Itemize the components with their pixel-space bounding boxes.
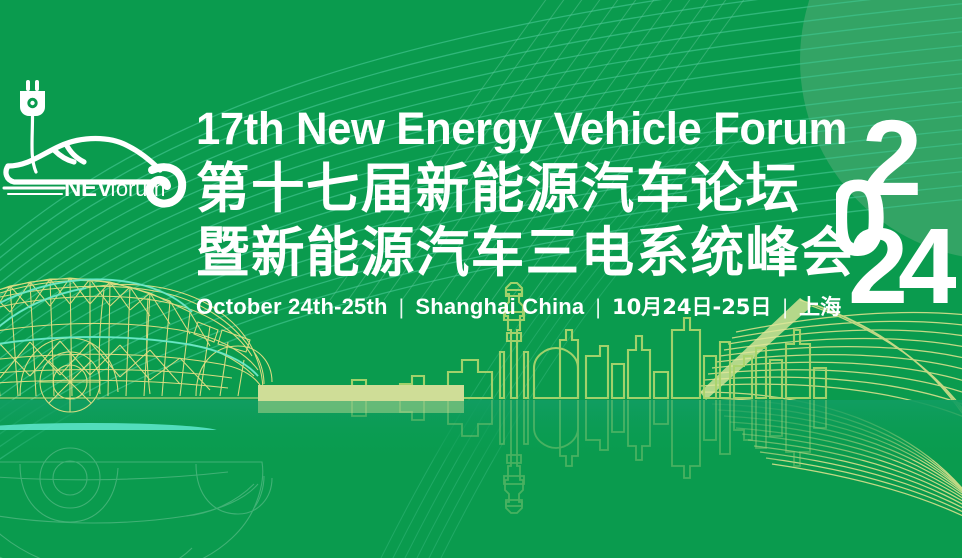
logo-brand-light: forum (110, 176, 165, 201)
speed-lines (4, 188, 64, 194)
conference-banner: NEV forum 17th New Energy Vehicle Forum … (0, 0, 962, 558)
title-chinese-line-2: 暨新能源汽车三电系统峰会 (196, 222, 830, 284)
title-english: 17th New Energy Vehicle Forum (196, 104, 817, 154)
meta-location-chinese: 上海 (799, 294, 841, 320)
year-digit-4: 4 (898, 205, 956, 310)
highlight-bar (258, 385, 464, 413)
car-underglow (0, 423, 220, 465)
meta-separator-2: | (584, 295, 612, 321)
meta-date-chinese: 10月24日-25日 (612, 294, 771, 320)
logo-brand-bold: NEV (64, 175, 113, 202)
headline-block: 17th New Energy Vehicle Forum 第十七届新能源汽车论… (196, 104, 836, 321)
charging-plug-icon (20, 80, 45, 116)
car-reflection (0, 448, 272, 558)
year-digit-2b: 2 (848, 205, 904, 310)
plug-cord (32, 116, 36, 172)
meta-separator-1: | (388, 295, 416, 321)
nev-forum-logo[interactable]: NEV forum (2, 74, 188, 214)
event-meta-line: October 24th-25th | Shanghai China | 10月… (196, 294, 836, 321)
meta-separator-3: | (771, 295, 799, 321)
meta-location-english: Shanghai China (415, 294, 584, 320)
meta-date-english: October 24th-25th (196, 294, 388, 320)
title-chinese-line-1: 第十七届新能源汽车论坛 (196, 158, 830, 220)
year-2024-mark: 2 0 2 4 (836, 105, 956, 310)
